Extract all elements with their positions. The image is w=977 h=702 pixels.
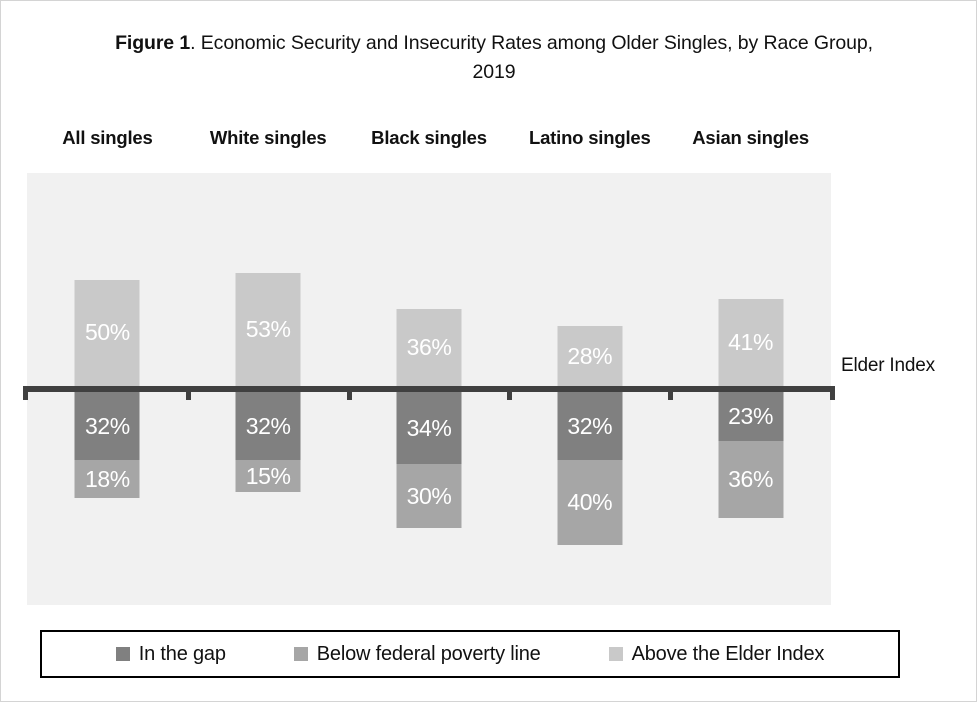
segment-above-elder-index[interactable]: 50% xyxy=(75,280,140,387)
bar-value-label: 53% xyxy=(246,316,291,343)
category-header-row: All singlesWhite singlesBlack singlesLat… xyxy=(27,127,831,149)
axis-tick xyxy=(347,392,352,400)
segment-below-poverty-line[interactable]: 30% xyxy=(396,464,461,528)
bar-value-label: 50% xyxy=(85,319,130,346)
bar-group: 50%32%18% xyxy=(27,173,188,605)
bar-value-label: 36% xyxy=(407,334,452,361)
category-label-asian-singles: Asian singles xyxy=(670,127,831,149)
chart-legend: In the gapBelow federal poverty lineAbov… xyxy=(40,630,900,678)
legend-swatch-icon xyxy=(294,647,308,661)
segment-below-poverty-line[interactable]: 18% xyxy=(75,460,140,498)
bar-group: 28%32%40% xyxy=(509,173,670,605)
category-label-latino-singles: Latino singles xyxy=(509,127,670,149)
bar-stack: 50%32%18% xyxy=(75,173,140,605)
bar-stack: 36%34%30% xyxy=(396,173,461,605)
bar-value-label: 32% xyxy=(246,413,291,440)
bar-group: 53%32%15% xyxy=(188,173,349,605)
legend-item[interactable]: In the gap xyxy=(116,643,226,666)
bar-group: 41%23%36% xyxy=(670,173,831,605)
bar-value-label: 36% xyxy=(728,466,773,493)
segment-in-the-gap[interactable]: 23% xyxy=(718,392,783,441)
axis-tick xyxy=(186,392,191,400)
legend-item[interactable]: Below federal poverty line xyxy=(294,643,541,666)
legend-label: Above the Elder Index xyxy=(632,643,825,666)
bar-value-label: 40% xyxy=(567,489,612,516)
category-label-white-singles: White singles xyxy=(188,127,349,149)
figure-container: Figure 1. Economic Security and Insecuri… xyxy=(0,0,977,702)
segment-above-elder-index[interactable]: 41% xyxy=(718,299,783,386)
bar-value-label: 18% xyxy=(85,466,130,493)
bar-value-label: 32% xyxy=(85,413,130,440)
legend-swatch-icon xyxy=(609,647,623,661)
bar-value-label: 34% xyxy=(407,415,452,442)
segment-above-elder-index[interactable]: 36% xyxy=(396,309,461,386)
bar-value-label: 30% xyxy=(407,483,452,510)
segment-below-poverty-line[interactable]: 15% xyxy=(236,460,301,492)
segment-in-the-gap[interactable]: 32% xyxy=(236,392,301,460)
bar-stack: 41%23%36% xyxy=(718,173,783,605)
segment-above-elder-index[interactable]: 28% xyxy=(557,326,622,386)
axis-tick xyxy=(668,392,673,400)
segment-below-poverty-line[interactable]: 40% xyxy=(557,460,622,545)
bar-value-label: 28% xyxy=(567,343,612,370)
category-label-black-singles: Black singles xyxy=(349,127,510,149)
segment-in-the-gap[interactable]: 34% xyxy=(396,392,461,464)
segment-in-the-gap[interactable]: 32% xyxy=(75,392,140,460)
chart-plot-area: 50%32%18%53%32%15%36%34%30%28%32%40%41%2… xyxy=(27,173,831,605)
segment-below-poverty-line[interactable]: 36% xyxy=(718,441,783,518)
segment-above-elder-index[interactable]: 53% xyxy=(236,273,301,386)
bar-stack: 28%32%40% xyxy=(557,173,622,605)
legend-label: Below federal poverty line xyxy=(317,643,541,666)
bar-stack: 53%32%15% xyxy=(236,173,301,605)
axis-end-cap xyxy=(23,392,28,400)
figure-title-number: Figure 1 xyxy=(115,32,190,54)
bar-group: 36%34%30% xyxy=(349,173,510,605)
legend-item[interactable]: Above the Elder Index xyxy=(609,643,825,666)
axis-end-cap xyxy=(830,392,835,400)
bar-value-label: 23% xyxy=(728,403,773,430)
segment-in-the-gap[interactable]: 32% xyxy=(557,392,622,460)
figure-title: Figure 1. Economic Security and Insecuri… xyxy=(109,29,879,87)
legend-swatch-icon xyxy=(116,647,130,661)
axis-tick xyxy=(507,392,512,400)
category-label-all-singles: All singles xyxy=(27,127,188,149)
legend-label: In the gap xyxy=(139,643,226,666)
figure-title-text: . Economic Security and Insecurity Rates… xyxy=(190,32,873,83)
elder-index-annotation: Elder Index xyxy=(841,355,935,377)
bar-value-label: 41% xyxy=(728,329,773,356)
bar-value-label: 15% xyxy=(246,463,291,490)
bar-value-label: 32% xyxy=(567,413,612,440)
